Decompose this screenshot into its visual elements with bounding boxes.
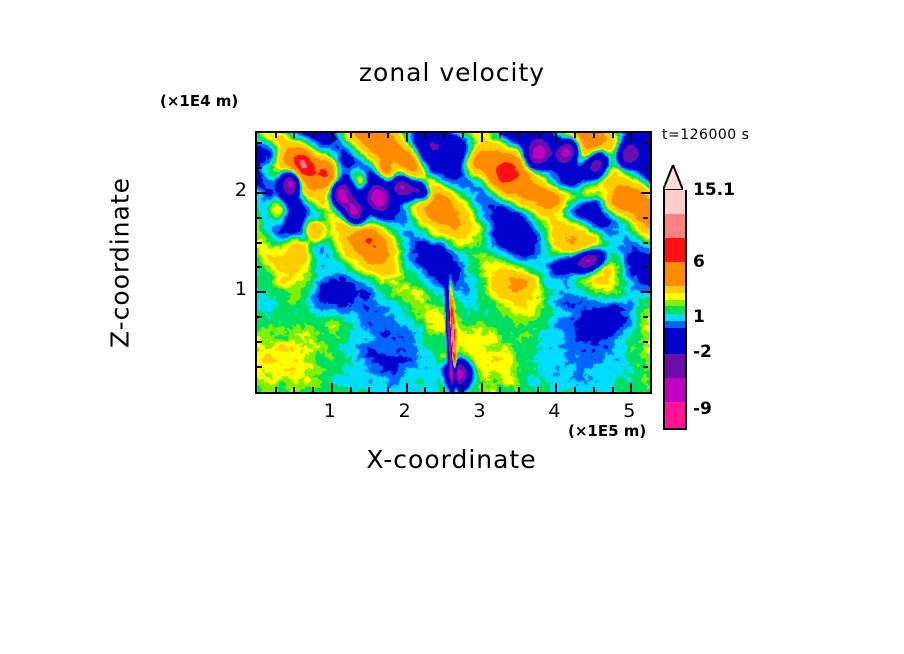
x-tick-minor-top bbox=[518, 133, 520, 138]
x-tick-minor bbox=[499, 387, 501, 392]
y-tick-major bbox=[257, 192, 266, 194]
x-tick-label: 2 bbox=[385, 400, 425, 422]
y-tick-minor-right bbox=[643, 217, 648, 219]
colorbar-band bbox=[663, 238, 687, 262]
x-tick-major-top bbox=[331, 133, 333, 142]
x-tick-label: 4 bbox=[534, 400, 574, 422]
x-tick-minor bbox=[518, 387, 520, 392]
colorbar-band bbox=[663, 314, 687, 321]
x-tick-minor-top bbox=[537, 133, 539, 138]
x-tick-minor-top bbox=[368, 133, 370, 138]
x-tick-minor bbox=[630, 387, 632, 392]
y-tick-minor bbox=[257, 316, 262, 318]
x-tick-minor bbox=[424, 387, 426, 392]
y-tick-minor-right bbox=[643, 242, 648, 244]
y-tick-minor bbox=[257, 217, 262, 219]
x-tick-minor-top bbox=[462, 133, 464, 138]
colorbar-label: 1 bbox=[693, 307, 705, 327]
x-tick-minor-top bbox=[293, 133, 295, 138]
colorbar-band bbox=[663, 286, 687, 293]
x-tick-minor-top bbox=[275, 133, 277, 138]
x-tick-major bbox=[555, 383, 557, 392]
x-tick-label: 5 bbox=[609, 400, 649, 422]
y-tick-minor bbox=[257, 366, 262, 368]
y-tick-minor-right bbox=[643, 316, 648, 318]
y-tick-minor-right bbox=[643, 266, 648, 268]
x-tick-minor bbox=[443, 387, 445, 392]
contour-plot-area bbox=[255, 131, 652, 394]
colorbar-label: -9 bbox=[693, 399, 712, 419]
x-tick-minor-top bbox=[630, 133, 632, 138]
colorbar-band bbox=[663, 293, 687, 300]
x-tick-label: 1 bbox=[310, 400, 350, 422]
x-tick-label: 3 bbox=[460, 400, 500, 422]
x-tick-minor-top bbox=[499, 133, 501, 138]
y-tick-minor-right bbox=[643, 366, 648, 368]
x-tick-minor bbox=[368, 387, 370, 392]
y-tick-minor-right bbox=[643, 167, 648, 169]
page-title: zonal velocity bbox=[0, 58, 904, 87]
x-tick-major-top bbox=[481, 133, 483, 142]
x-tick-minor-top bbox=[574, 133, 576, 138]
colorbar-band bbox=[663, 190, 687, 214]
x-axis-title: X-coordinate bbox=[255, 445, 648, 474]
x-tick-minor-top bbox=[312, 133, 314, 138]
colorbar-band bbox=[663, 402, 687, 430]
y-tick-label: 2 bbox=[207, 179, 247, 201]
x-tick-minor-top bbox=[593, 133, 595, 138]
y-tick-minor bbox=[257, 167, 262, 169]
colorbar-band bbox=[663, 328, 687, 354]
x-tick-minor bbox=[612, 387, 614, 392]
x-tick-major-top bbox=[406, 133, 408, 142]
time-label: t=126000 s bbox=[662, 127, 749, 143]
y-tick-minor bbox=[257, 242, 262, 244]
x-tick-major bbox=[331, 383, 333, 392]
colorbar-band bbox=[663, 321, 687, 328]
colorbar-band bbox=[663, 354, 687, 378]
x-tick-major-top bbox=[555, 133, 557, 142]
x-tick-minor bbox=[293, 387, 295, 392]
colorbar-label: 15.1 bbox=[693, 180, 735, 200]
colorbar-band bbox=[663, 214, 687, 238]
x-tick-minor-top bbox=[387, 133, 389, 138]
colorbar-band bbox=[663, 306, 687, 314]
y-tick-major bbox=[257, 291, 266, 293]
x-tick-minor bbox=[537, 387, 539, 392]
y-tick-minor bbox=[257, 142, 262, 144]
colorbar-label: -2 bbox=[693, 342, 712, 362]
y-axis-units: (×1E4 m) bbox=[160, 92, 238, 110]
contour-field bbox=[257, 133, 650, 392]
x-tick-minor bbox=[593, 387, 595, 392]
x-tick-minor bbox=[574, 387, 576, 392]
y-tick-minor bbox=[257, 266, 262, 268]
x-tick-minor-top bbox=[612, 133, 614, 138]
x-axis-units: (×1E5 m) bbox=[568, 422, 646, 440]
x-tick-minor bbox=[387, 387, 389, 392]
y-tick-minor-right bbox=[643, 142, 648, 144]
x-tick-minor bbox=[275, 387, 277, 392]
x-tick-minor-top bbox=[350, 133, 352, 138]
x-tick-minor bbox=[312, 387, 314, 392]
x-tick-minor-top bbox=[424, 133, 426, 138]
y-tick-label: 1 bbox=[207, 278, 247, 300]
colorbar-band bbox=[663, 378, 687, 402]
y-axis-title: Z-coordinate bbox=[106, 133, 135, 393]
x-tick-major bbox=[406, 383, 408, 392]
colorbar-band bbox=[663, 262, 687, 286]
y-tick-major-right bbox=[641, 192, 650, 194]
colorbar-label: 6 bbox=[693, 252, 705, 272]
x-tick-minor bbox=[350, 387, 352, 392]
x-tick-major bbox=[481, 383, 483, 392]
colorbar: 15.161-2-9 bbox=[663, 165, 783, 395]
colorbar-arrow-icon bbox=[663, 165, 683, 190]
y-tick-minor bbox=[257, 341, 262, 343]
x-tick-minor bbox=[462, 387, 464, 392]
y-tick-minor-right bbox=[643, 341, 648, 343]
x-tick-minor-top bbox=[443, 133, 445, 138]
y-tick-major-right bbox=[641, 291, 650, 293]
